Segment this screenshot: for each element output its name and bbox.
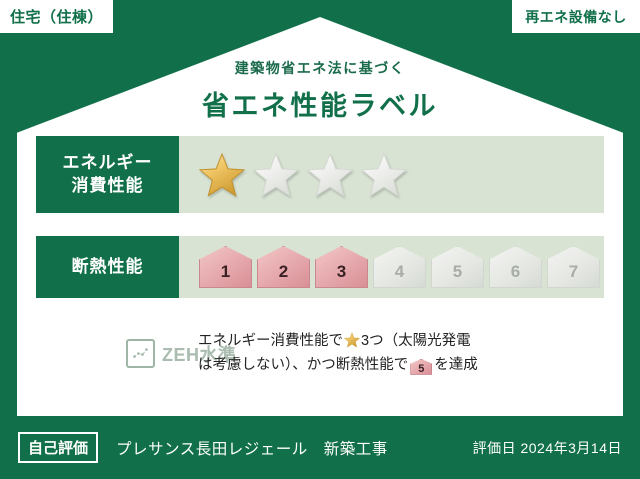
insulation-performance-label-text: 断熱性能 — [72, 256, 144, 279]
note-line1-prefix: エネルギー消費性能で — [198, 333, 343, 349]
dotted-line-chart-icon — [126, 339, 155, 368]
note-line2-prefix: は考慮しない）、かつ断熱性能で — [198, 357, 408, 373]
insulation-badge-strip: 1 2 3 4 5 6 7 — [199, 246, 600, 288]
star-empty-icon — [307, 152, 353, 198]
insulation-badge: 5 — [431, 246, 484, 288]
energy-performance-label-card: 住宅（住棟） 再エネ設備なし 建築物省エネ法に基づく 省エネ性能ラベル エネルギ… — [0, 0, 640, 479]
energy-consumption-label: エネルギー 消費性能 — [36, 136, 179, 213]
insulation-badge-rating: 1 2 3 4 5 6 7 — [179, 236, 604, 298]
inline-star-icon — [344, 332, 360, 348]
footer-bar: 自己評価 プレサンス長田レジェール 新築工事 評価日 2024年3月14日 — [0, 416, 640, 479]
energy-consumption-label-line2: 消費性能 — [72, 175, 144, 198]
insulation-badge: 3 — [315, 246, 368, 288]
insulation-badge: 7 — [547, 246, 600, 288]
building-name: プレサンス長田レジェール 新築工事 — [116, 437, 388, 459]
energy-star-rating — [179, 136, 604, 213]
note-line1-suffix: 3つ（太陽光発電 — [361, 333, 471, 349]
insulation-performance-label: 断熱性能 — [36, 236, 179, 298]
evaluation-date: 評価日 2024年3月14日 — [473, 438, 622, 458]
star-filled-icon — [199, 152, 245, 198]
insulation-badge: 6 — [489, 246, 542, 288]
energy-consumption-label-line1: エネルギー — [63, 152, 153, 175]
note-line2-suffix: を達成 — [434, 357, 478, 373]
note-area: ZEH水準 エネルギー消費性能で3つ（太陽光発電は考慮しない）、かつ断熱性能で5… — [36, 330, 606, 378]
housing-type-tag: 住宅（住棟） — [0, 0, 113, 33]
star-empty-icon — [253, 152, 299, 198]
insulation-badge: 2 — [257, 246, 310, 288]
energy-consumption-row: エネルギー 消費性能 — [36, 136, 604, 213]
renewable-energy-tag: 再エネ設備なし — [512, 0, 640, 33]
label-subtitle: 建築物省エネ法に基づく — [0, 58, 640, 78]
achievement-note: エネルギー消費性能で3つ（太陽光発電は考慮しない）、かつ断熱性能で5を達成 — [186, 330, 606, 378]
label-main-title: 省エネ性能ラベル — [0, 84, 640, 123]
inline-insulation-badge: 5 — [410, 359, 432, 375]
insulation-badge: 1 — [199, 246, 252, 288]
self-evaluation-badge: 自己評価 — [18, 432, 98, 463]
title-block: 建築物省エネ法に基づく 省エネ性能ラベル — [0, 58, 640, 123]
insulation-badge: 4 — [373, 246, 426, 288]
insulation-performance-row: 断熱性能 1 2 3 4 5 6 7 — [36, 236, 604, 298]
zeh-standard-block: ZEH水準 — [36, 339, 186, 368]
star-empty-icon — [361, 152, 407, 198]
